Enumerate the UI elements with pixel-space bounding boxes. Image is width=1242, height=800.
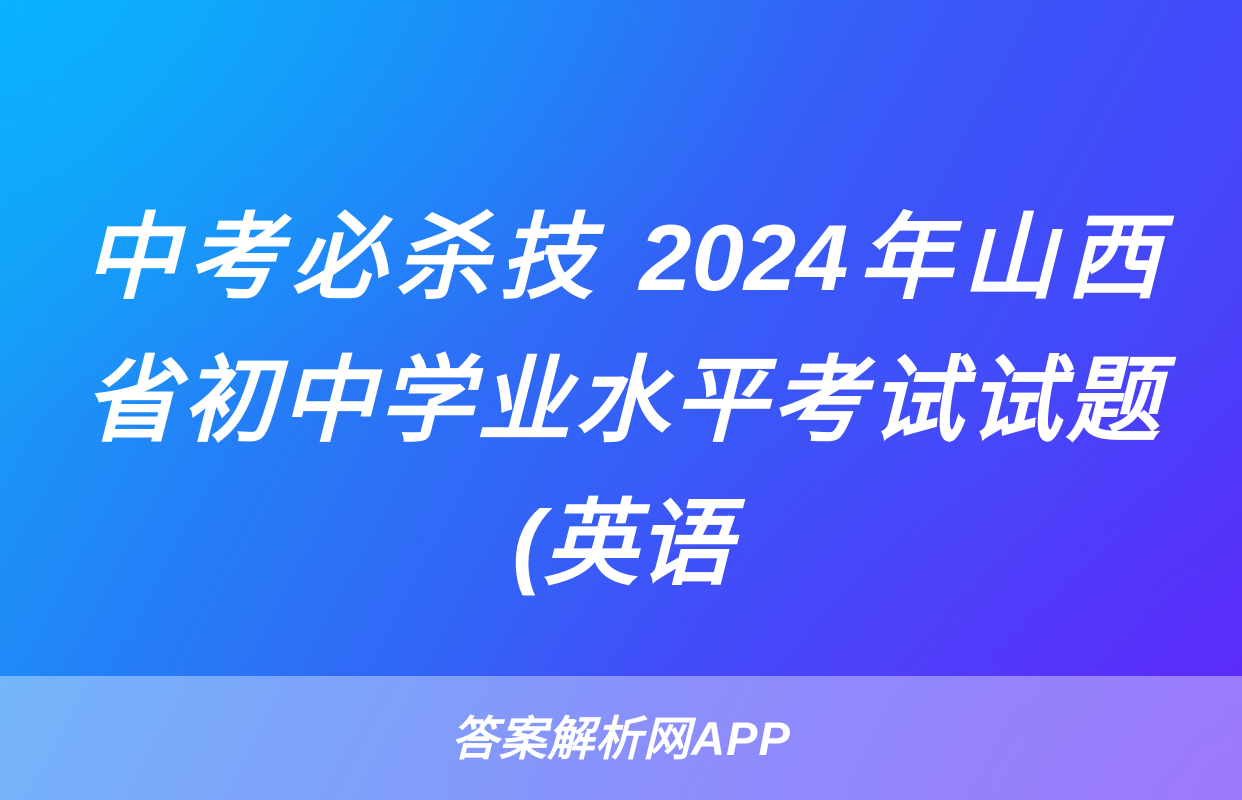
cover-card: 中考必杀技 2024年山西 省初中学业水平考试试题 (英语 答案解析网APP — [0, 0, 1242, 800]
headline-block: 中考必杀技 2024年山西 省初中学业水平考试试题 (英语 — [84, 186, 1160, 615]
headline-line-2: 省初中学业水平考试试题 — [84, 329, 1160, 472]
headline-line-1: 中考必杀技 2024年山西 — [84, 186, 1160, 329]
app-brand-label: 答案解析网APP — [451, 715, 791, 762]
footer-band: 答案解析网APP — [0, 676, 1242, 800]
headline-line-3: (英语 — [84, 472, 1160, 615]
